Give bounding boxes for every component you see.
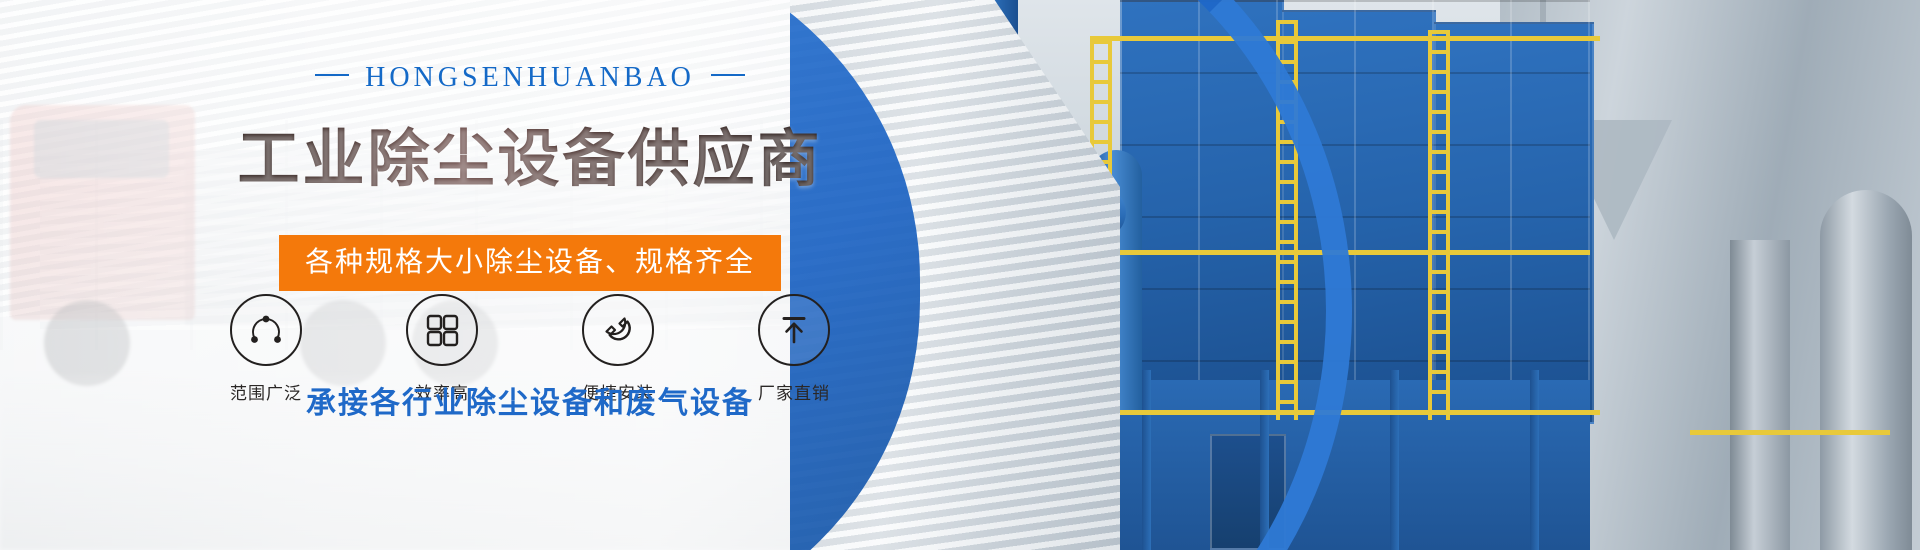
support-leg: [1530, 370, 1539, 550]
feature-icon-circle: [582, 294, 654, 366]
yellow-ladder: [1428, 30, 1450, 420]
highlight-bar: 各种规格大小除尘设备、规格齐全: [0, 235, 1060, 291]
highlight-bar-text: 各种规格大小除尘设备、规格齐全: [279, 235, 781, 291]
brand-eyebrow-text: HONGSENHUANBAO: [365, 62, 695, 93]
steel-duct-column: [1730, 240, 1790, 550]
feature-icon-circle: [406, 294, 478, 366]
hero-tagline: 承接各行业除尘设备和废气设备: [0, 378, 1060, 422]
hero-content: HONGSENHUANBAO 工业除尘设备供应商 各种规格大小除尘设备、规格齐全…: [0, 0, 1060, 550]
hero-banner: HONGSENHUANBAO 工业除尘设备供应商 各种规格大小除尘设备、规格齐全…: [0, 0, 1920, 550]
arrow-up-bar-icon: [775, 311, 813, 349]
dash-right-icon: [711, 74, 745, 76]
brand-eyebrow: HONGSENHUANBAO: [0, 62, 1060, 94]
four-squares-grid-icon: [423, 311, 461, 349]
steel-silo: [1820, 190, 1912, 550]
wrench-icon: [598, 310, 638, 350]
feature-icon-circle: [758, 294, 830, 366]
feature-icon-circle: [230, 294, 302, 366]
network-nodes-icon: [246, 310, 286, 350]
page-title: 工业除尘设备供应商: [0, 108, 1060, 198]
support-leg: [1390, 370, 1399, 550]
dash-left-icon: [315, 74, 349, 76]
yellow-handrail: [1690, 430, 1890, 435]
